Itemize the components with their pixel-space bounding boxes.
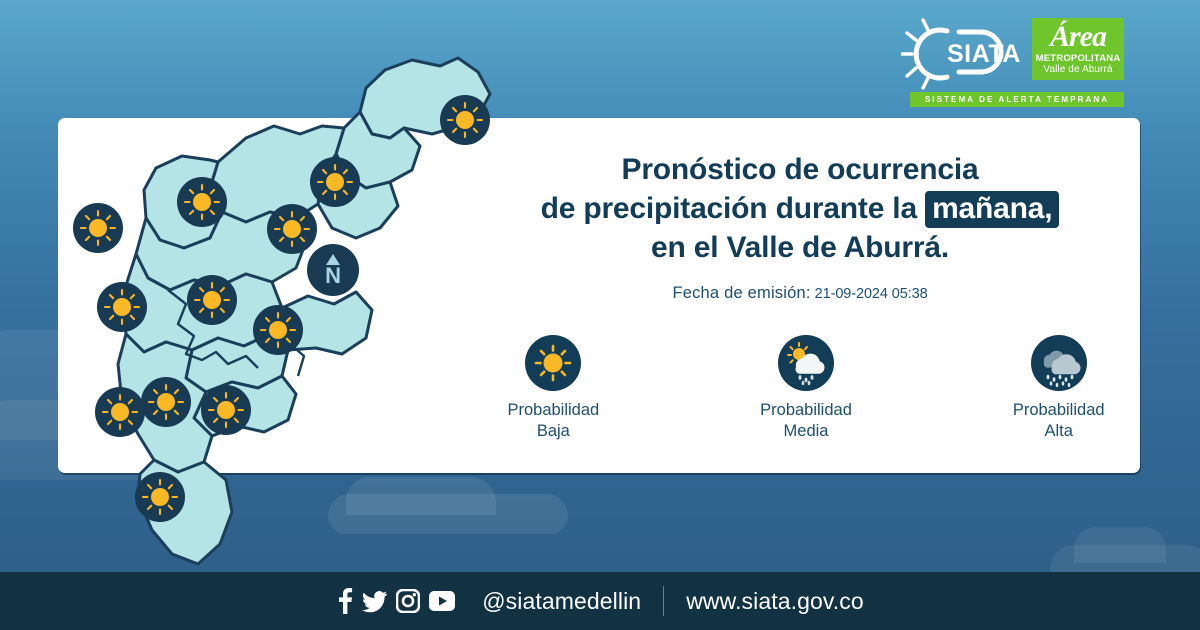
- legend-label-media-line2: Media: [735, 421, 878, 442]
- sun-icon: [525, 335, 581, 391]
- area-metropolitana-logo: Área METROPOLITANA Valle de Aburrá: [1032, 18, 1124, 80]
- legend-label-media-line1: Probabilidad: [735, 400, 878, 421]
- emission-date-value: 21-09-2024 05:38: [815, 286, 928, 302]
- sun-cloud-icon: SIATA: [901, 18, 1023, 90]
- title-line-3: en el Valle de Aburrá.: [470, 228, 1130, 267]
- legend-icon-baja-wrap: [482, 335, 625, 391]
- emission-date-label: Fecha de emisión:: [672, 284, 810, 302]
- legend-label-media: Probabilidad Media: [735, 400, 878, 442]
- footer-bar: @siatamedellin www.siata.gov.co: [0, 572, 1200, 630]
- amva-line-valle: Valle de Aburrá: [1043, 64, 1112, 75]
- page-title: Pronóstico de ocurrencia de precipitació…: [470, 150, 1130, 267]
- legend-item-baja: Probabilidad Baja: [482, 335, 625, 442]
- facebook-icon[interactable]: [336, 588, 353, 614]
- social-handle[interactable]: @siatamedellin: [482, 588, 641, 615]
- title-line-2-text: de precipitación durante la: [541, 192, 917, 225]
- probability-legend: Probabilidad Baja: [470, 335, 1130, 442]
- legend-item-alta: Probabilidad Alta: [987, 335, 1130, 442]
- legend-item-media: Probabilidad Media: [735, 335, 878, 442]
- instagram-icon[interactable]: [396, 589, 420, 613]
- tagline-banner: SISTEMA DE ALERTA TEMPRANA: [910, 92, 1124, 107]
- forecast-panel: Pronóstico de ocurrencia de precipitació…: [470, 150, 1130, 442]
- period-highlight: mañana,: [925, 191, 1059, 228]
- title-line-1: Pronóstico de ocurrencia: [470, 150, 1130, 189]
- twitter-icon[interactable]: [362, 588, 387, 614]
- logo-group: SIATA Área METROPOLITANA Valle de Aburrá: [901, 18, 1124, 90]
- legend-icon-alta-wrap: [987, 335, 1130, 391]
- website-url[interactable]: www.siata.gov.co: [686, 588, 864, 615]
- title-line-2: de precipitación durante la mañana,: [470, 189, 1130, 228]
- legend-label-baja-line1: Probabilidad: [482, 400, 625, 421]
- youtube-icon[interactable]: [429, 591, 455, 611]
- amva-script-text: Área: [1050, 22, 1106, 52]
- legend-label-alta-line1: Probabilidad: [987, 400, 1130, 421]
- emission-date: Fecha de emisión:21-09-2024 05:38: [470, 284, 1130, 303]
- amva-line-metropolitana: METROPOLITANA: [1036, 53, 1121, 64]
- legend-label-alta: Probabilidad Alta: [987, 400, 1130, 442]
- legend-label-alta-line2: Alta: [987, 421, 1130, 442]
- rain-cloud-icon: [1031, 335, 1087, 391]
- social-links[interactable]: [336, 588, 455, 614]
- siata-logo: SIATA: [901, 18, 1023, 90]
- background-cloud-center: [328, 494, 568, 534]
- sun-arc: [916, 30, 947, 78]
- sun-rain-cloud-icon: [778, 335, 834, 391]
- legend-label-baja-line2: Baja: [482, 421, 625, 442]
- footer-divider: [663, 586, 664, 616]
- legend-icon-media-wrap: [735, 335, 878, 391]
- siata-wordmark: SIATA: [947, 40, 1021, 68]
- legend-label-baja: Probabilidad Baja: [482, 400, 625, 442]
